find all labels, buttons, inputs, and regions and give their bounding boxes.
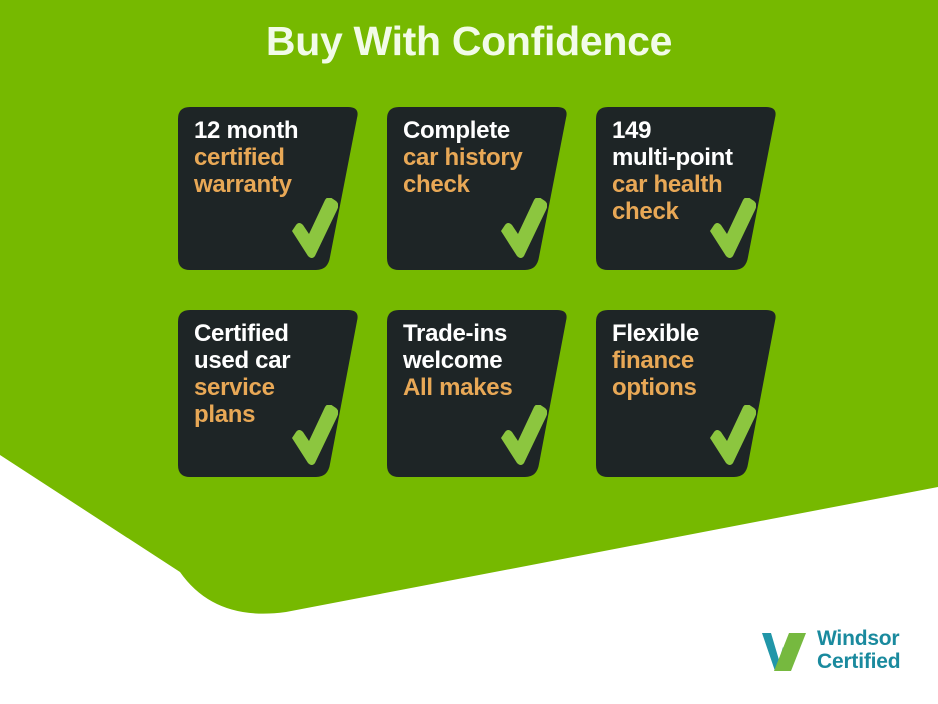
card-line: car history <box>403 145 539 172</box>
benefit-card-warranty[interactable]: 12 month certified warranty <box>178 107 360 270</box>
checkmark-icon <box>706 405 756 467</box>
checkmark-icon <box>497 198 547 260</box>
card-line: car health <box>612 172 748 199</box>
page-title: Buy With Confidence <box>0 18 938 65</box>
card-line: finance <box>612 348 748 375</box>
card-line: service <box>194 375 330 402</box>
benefit-card-text: Flexible finance options <box>612 321 748 402</box>
logo-wordmark: Windsor Certified <box>817 628 900 673</box>
benefit-cards-row-bottom: Certified used car service plans Trade-i… <box>178 310 778 477</box>
benefit-card-text: Complete car history check <box>403 118 539 199</box>
card-line: used car <box>194 348 330 375</box>
card-line: 12 month <box>194 118 330 145</box>
card-line: options <box>612 375 748 402</box>
checkmark-icon <box>288 405 338 467</box>
benefit-card-service-plans[interactable]: Certified used car service plans <box>178 310 360 477</box>
benefit-card-health-check[interactable]: 149 multi-point car health check <box>596 107 778 270</box>
card-line: Trade-ins <box>403 321 539 348</box>
benefit-card-text: Trade-ins welcome All makes <box>403 321 539 402</box>
card-line: multi-point <box>612 145 748 172</box>
card-line: 149 <box>612 118 748 145</box>
benefit-card-trade-ins[interactable]: Trade-ins welcome All makes <box>387 310 569 477</box>
benefit-cards-grid: 12 month certified warranty Complete car… <box>178 107 778 477</box>
card-line: Certified <box>194 321 330 348</box>
checkmark-icon <box>706 198 756 260</box>
card-line: warranty <box>194 172 330 199</box>
logo-line-1: Windsor <box>817 628 900 651</box>
card-line: certified <box>194 145 330 172</box>
checkmark-icon <box>497 405 547 467</box>
windsor-certified-logo[interactable]: Windsor Certified <box>758 626 900 676</box>
benefit-card-history-check[interactable]: Complete car history check <box>387 107 569 270</box>
card-line: check <box>403 172 539 199</box>
windsor-w-icon <box>758 626 810 676</box>
card-line: All makes <box>403 375 539 402</box>
card-line: Flexible <box>612 321 748 348</box>
benefit-card-text: 12 month certified warranty <box>194 118 330 199</box>
card-line: Complete <box>403 118 539 145</box>
benefit-card-finance[interactable]: Flexible finance options <box>596 310 778 477</box>
benefit-cards-row-top: 12 month certified warranty Complete car… <box>178 107 778 270</box>
card-line: welcome <box>403 348 539 375</box>
checkmark-icon <box>288 198 338 260</box>
logo-line-2: Certified <box>817 651 900 674</box>
